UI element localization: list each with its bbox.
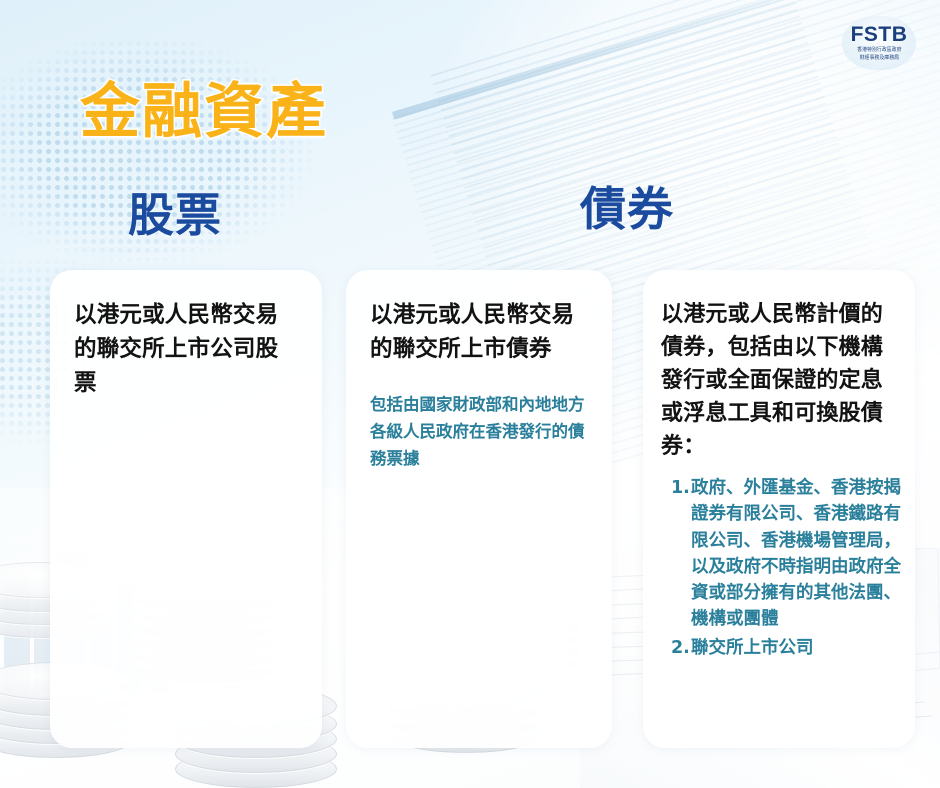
logo-subtitle-line1: 香港特別行政區政府	[857, 47, 901, 54]
column-heading-bonds: 債券	[580, 186, 674, 232]
logo-acronym: FSTB	[851, 24, 908, 45]
list-item-text: 政府、外匯基金、香港按揭證券有限公司、香港鐵路有限公司、香港機場管理局，以及政府…	[691, 475, 901, 633]
priced-bonds-card: 以港元或人民幣計價的債券，包括由以下機構發行或全面保證的定息或浮息工具和可換股債…	[643, 270, 915, 748]
stocks-card: 以港元或人民幣交易的聯交所上市公司股票	[50, 270, 322, 748]
logo-subtitle-line2: 財經事務及庫務局	[857, 55, 901, 62]
stocks-card-lead: 以港元或人民幣交易的聯交所上市公司股票	[74, 298, 300, 401]
list-item-number: 2.	[671, 635, 691, 661]
list-item: 2. 聯交所上市公司	[661, 635, 901, 661]
priced-bonds-issuer-list: 1. 政府、外匯基金、香港按揭證券有限公司、香港鐵路有限公司、香港機場管理局，以…	[661, 475, 901, 661]
page-title: 金融資產	[80, 82, 328, 142]
list-item: 1. 政府、外匯基金、香港按揭證券有限公司、香港鐵路有限公司、香港機場管理局，以…	[661, 475, 901, 633]
list-item-number: 1.	[671, 475, 691, 501]
listed-bonds-card: 以港元或人民幣交易的聯交所上市債券 包括由國家財政部和內地地方各級人民政府在香港…	[346, 270, 612, 748]
listed-bonds-card-note: 包括由國家財政部和內地地方各級人民政府在香港發行的債務票據	[370, 392, 590, 472]
fstb-logo: FSTB 香港特別行政區政府 財經事務及庫務局	[842, 16, 916, 70]
listed-bonds-card-lead: 以港元或人民幣交易的聯交所上市債券	[370, 298, 590, 366]
priced-bonds-card-lead: 以港元或人民幣計價的債券，包括由以下機構發行或全面保證的定息或浮息工具和可換股債…	[661, 298, 901, 463]
list-item-text: 聯交所上市公司	[691, 635, 901, 661]
column-heading-stocks: 股票	[128, 192, 222, 238]
slide-root: FSTB 香港特別行政區政府 財經事務及庫務局 金融資產 股票 債券 以港元或人…	[0, 0, 940, 788]
